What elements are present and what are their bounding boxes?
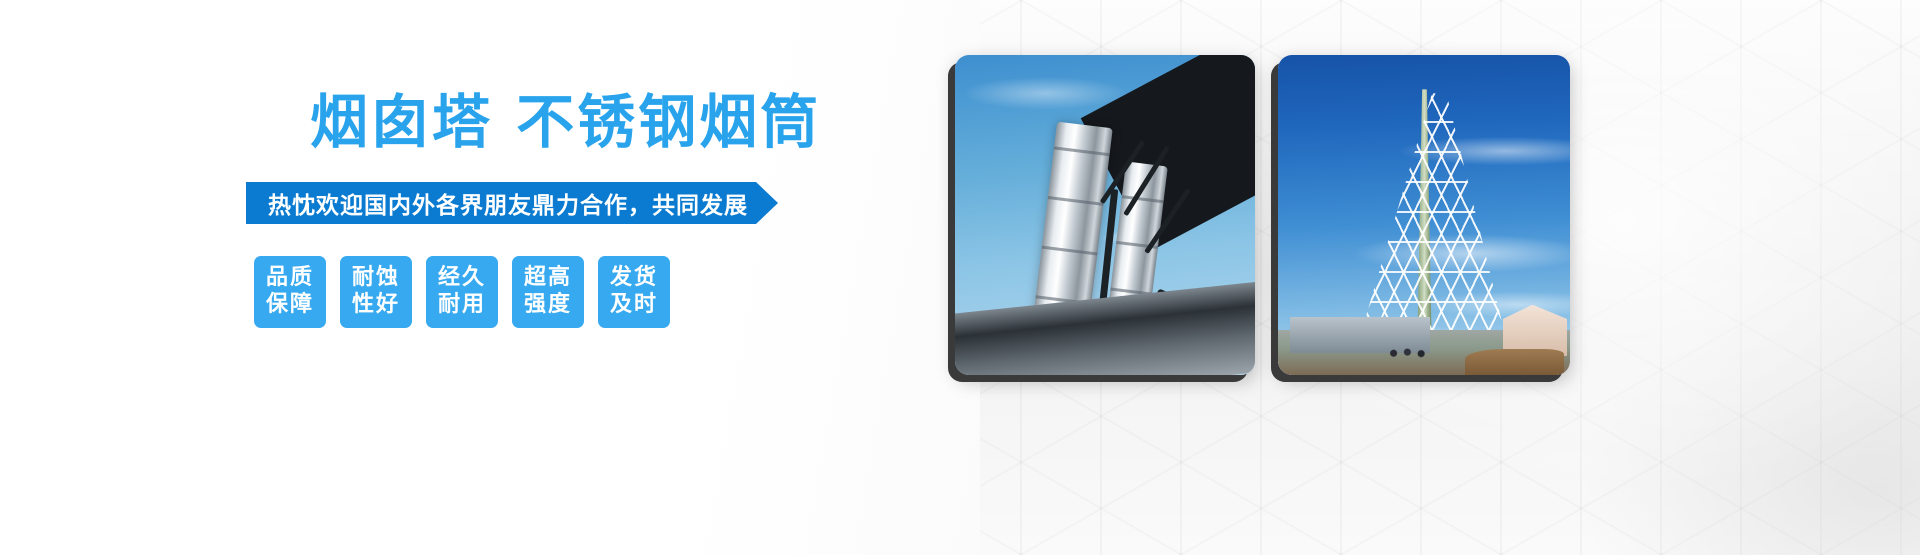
badge-line-2: 耐用 <box>438 292 486 319</box>
subtitle-text: 热忱欢迎国内外各界朋友鼎力合作，共同发展 <box>268 186 748 220</box>
product-photo-lattice-tower[interactable] <box>1278 55 1570 375</box>
badge-line-1: 耐蚀 <box>352 265 400 292</box>
photo-inner <box>955 55 1255 375</box>
badge-line-1: 经久 <box>438 265 486 292</box>
banner-subtitle-wrapper: 热忱欢迎国内外各界朋友鼎力合作，共同发展 <box>246 182 778 224</box>
feature-badge[interactable]: 品质 保障 <box>254 256 326 328</box>
badge-line-1: 发货 <box>610 265 658 292</box>
subtitle-ribbon: 热忱欢迎国内外各界朋友鼎力合作，共同发展 <box>246 182 778 224</box>
banner-text-block: 烟囱塔 不锈钢烟筒 热忱欢迎国内外各界朋友鼎力合作，共同发展 品质 保障 耐蚀 … <box>246 0 866 555</box>
feature-badge[interactable]: 超高 强度 <box>512 256 584 328</box>
badge-line-1: 品质 <box>266 265 314 292</box>
dirt-mound <box>1465 349 1564 375</box>
banner-title: 烟囱塔 不锈钢烟筒 <box>310 92 821 153</box>
badge-line-2: 性好 <box>352 292 400 319</box>
feature-badge-list: 品质 保障 耐蚀 性好 经久 耐用 超高 强度 发货 及时 <box>254 256 670 328</box>
photo-inner <box>1278 55 1570 375</box>
feature-badge[interactable]: 耐蚀 性好 <box>340 256 412 328</box>
people-silhouettes <box>1383 340 1436 362</box>
feature-badge[interactable]: 经久 耐用 <box>426 256 498 328</box>
badge-line-1: 超高 <box>524 265 572 292</box>
badge-line-2: 及时 <box>610 292 658 319</box>
promo-banner: 烟囱塔 不锈钢烟筒 热忱欢迎国内外各界朋友鼎力合作，共同发展 品质 保障 耐蚀 … <box>0 0 1920 555</box>
badge-line-2: 强度 <box>524 292 572 319</box>
feature-badge[interactable]: 发货 及时 <box>598 256 670 328</box>
badge-line-2: 保障 <box>266 292 314 319</box>
product-photo-stainless-chimney[interactable] <box>955 55 1255 375</box>
